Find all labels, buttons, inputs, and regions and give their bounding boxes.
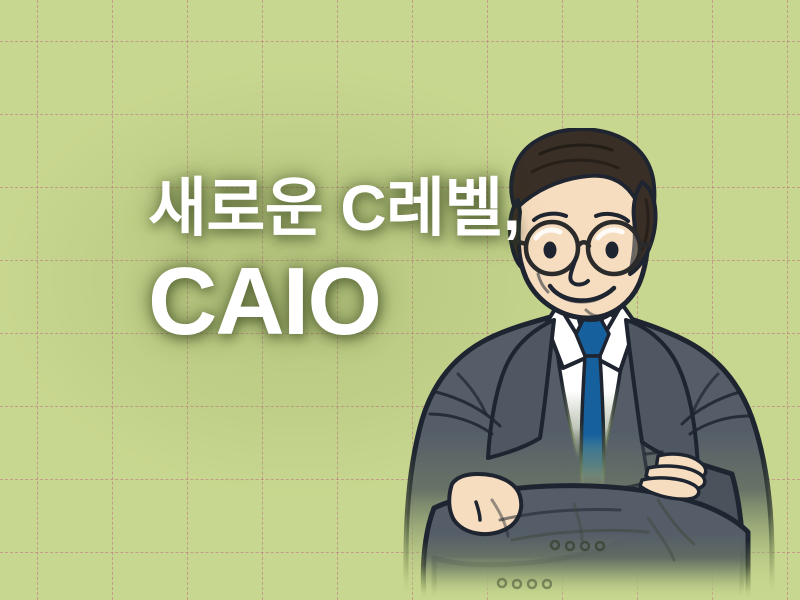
- hand-left: [449, 474, 521, 534]
- head: [510, 129, 656, 318]
- eye-right: [606, 242, 619, 259]
- promo-card: 새로운 C레벨, CAIO: [0, 0, 800, 600]
- headline-block: 새로운 C레벨, CAIO: [148, 176, 520, 350]
- headline-line-2: CAIO: [148, 254, 520, 350]
- eye-left: [544, 242, 557, 259]
- tie-blade: [581, 356, 604, 488]
- headline-line-1: 새로운 C레벨,: [148, 176, 520, 240]
